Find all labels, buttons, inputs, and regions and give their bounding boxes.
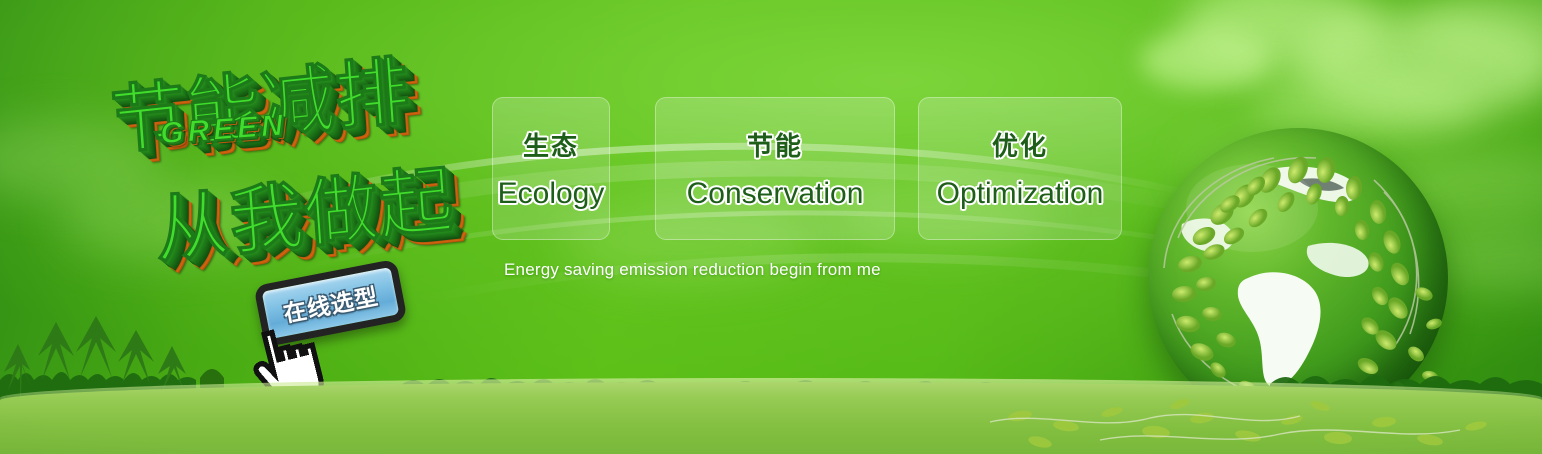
online-selection-button-label: 在线选型	[280, 277, 381, 329]
headline-3d: 节能减排 GREEN 从我做起	[88, 24, 503, 281]
green-energy-banner: 节能减排 GREEN 从我做起 生态 Ecology 节能 Conservati…	[0, 0, 1542, 454]
cloud-icon	[1420, 0, 1542, 70]
feature-card-en-label: Ecology	[498, 177, 605, 211]
headline-line-bottom: 从我做起	[151, 140, 457, 278]
cloud-icon	[1300, 10, 1542, 120]
cloud-icon	[1140, 30, 1270, 90]
feature-card-cn-label: 生态	[523, 126, 579, 163]
grass-field	[0, 382, 1542, 454]
feature-card-cn-label: 节能	[747, 126, 803, 163]
feature-card-en-label: Optimization	[937, 177, 1104, 211]
feature-card-ecology[interactable]: 生态 Ecology	[492, 97, 610, 240]
tagline: Energy saving emission reduction begin f…	[504, 260, 881, 280]
feature-card-optimization[interactable]: 优化 Optimization	[918, 97, 1122, 240]
feature-card-conservation[interactable]: 节能 Conservation	[655, 97, 895, 240]
feature-card-en-label: Conservation	[687, 177, 864, 211]
cloud-icon	[1180, 0, 1380, 70]
online-selection-button[interactable]: 在线选型	[253, 259, 407, 348]
feature-card-cn-label: 优化	[992, 126, 1048, 163]
